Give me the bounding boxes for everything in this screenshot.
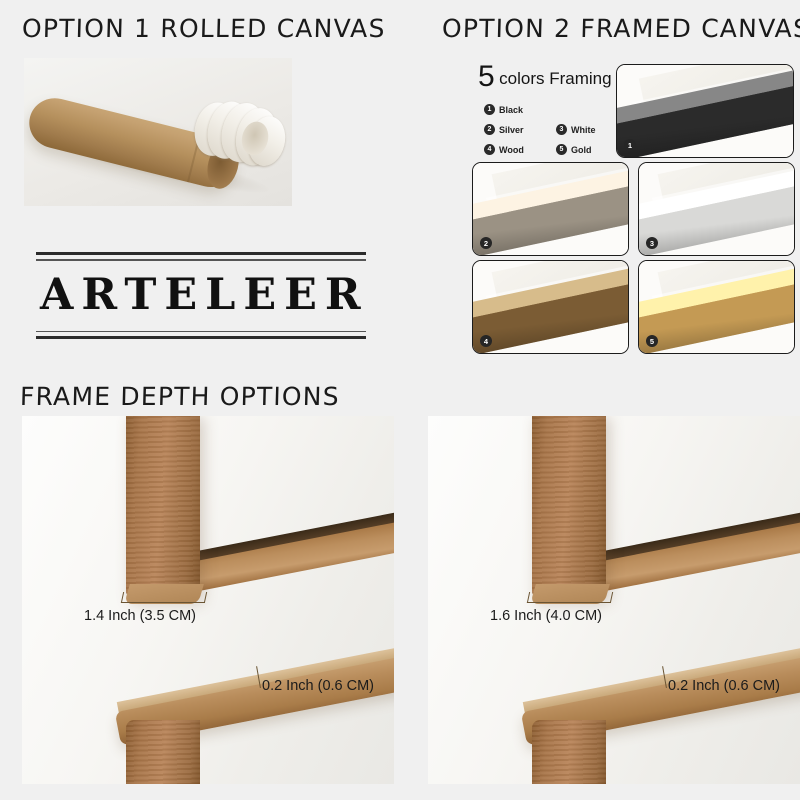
rolled-canvas-photo xyxy=(24,58,292,206)
frame-thickness-label: 0.2 Inch (0.6 CM) xyxy=(262,678,374,694)
frame-swatch-gold[interactable]: 5 xyxy=(638,260,795,354)
swatch-badge-2: 2 xyxy=(480,237,492,249)
framing-title: 5 colors Framing xyxy=(478,60,612,94)
option2-heading: OPTION 2 FRAMED CANVAS xyxy=(442,14,800,43)
frame-post xyxy=(126,416,200,598)
frame-swatch-silver[interactable]: 2 xyxy=(472,162,629,256)
width-caliper-icon xyxy=(527,592,613,603)
framing-title-text: colors Framing xyxy=(499,69,611,88)
legend-label: Gold xyxy=(571,145,592,155)
frame-depth-heading: FRAME DEPTH OPTIONS xyxy=(20,382,341,411)
legend-label: Wood xyxy=(499,145,524,155)
legend-item-silver: 2 Silver xyxy=(484,124,556,135)
framing-title-number: 5 xyxy=(478,60,495,93)
legend-item-black: 1 Black xyxy=(484,104,556,115)
legend-label: Black xyxy=(499,105,523,115)
swatch-scene xyxy=(617,65,793,157)
swatch-scene xyxy=(473,261,628,353)
frame-width-label: 1.6 Inch (4.0 CM) xyxy=(490,608,602,624)
frame-depth-photo-right: 1.6 Inch (4.0 CM) 0.2 Inch (0.6 CM) xyxy=(428,416,800,784)
legend-item-wood: 4 Wood xyxy=(484,144,556,155)
badge-5-icon: 5 xyxy=(556,144,567,155)
frame-post-lower xyxy=(532,720,606,784)
swatch-scene xyxy=(473,163,628,255)
swatch-badge-1: 1 xyxy=(624,139,636,151)
legend-label: White xyxy=(571,125,596,135)
brand-wordmark: ARTELEER xyxy=(36,261,366,331)
swatch-badge-5: 5 xyxy=(646,335,658,347)
badge-2-icon: 2 xyxy=(484,124,495,135)
brand-logo: ARTELEER xyxy=(36,252,366,352)
frame-width-label: 1.4 Inch (3.5 CM) xyxy=(84,608,196,624)
swatch-badge-3: 3 xyxy=(646,237,658,249)
frame-post xyxy=(532,416,606,598)
frame-swatch-white[interactable]: 3 xyxy=(638,162,795,256)
frame-post-lower xyxy=(126,720,200,784)
frame-thickness-label: 0.2 Inch (0.6 CM) xyxy=(668,678,780,694)
badge-3-icon: 3 xyxy=(556,124,567,135)
badge-1-icon: 1 xyxy=(484,104,495,115)
swatch-badge-4: 4 xyxy=(480,335,492,347)
swatch-scene xyxy=(639,261,794,353)
color-legend: 1 Black 2 Silver 3 White 4 Wood 5 Gold xyxy=(484,104,634,155)
swatch-scene xyxy=(639,163,794,255)
option1-heading: OPTION 1 ROLLED CANVAS xyxy=(22,14,386,43)
frame-swatch-black[interactable]: 1 xyxy=(616,64,794,158)
legend-label: Silver xyxy=(499,125,524,135)
frame-depth-photo-left: 1.4 Inch (3.5 CM) 0.2 Inch (0.6 CM) xyxy=(22,416,394,784)
width-caliper-icon xyxy=(121,592,207,603)
logo-rule-bottom-thick xyxy=(36,336,366,339)
badge-4-icon: 4 xyxy=(484,144,495,155)
frame-swatch-wood[interactable]: 4 xyxy=(472,260,629,354)
infographic-page: OPTION 1 ROLLED CANVAS ARTELEER OPTION 2… xyxy=(0,0,800,800)
framing-options: 5 colors Framing 1 Black 2 Silver 3 Whit… xyxy=(470,56,796,360)
